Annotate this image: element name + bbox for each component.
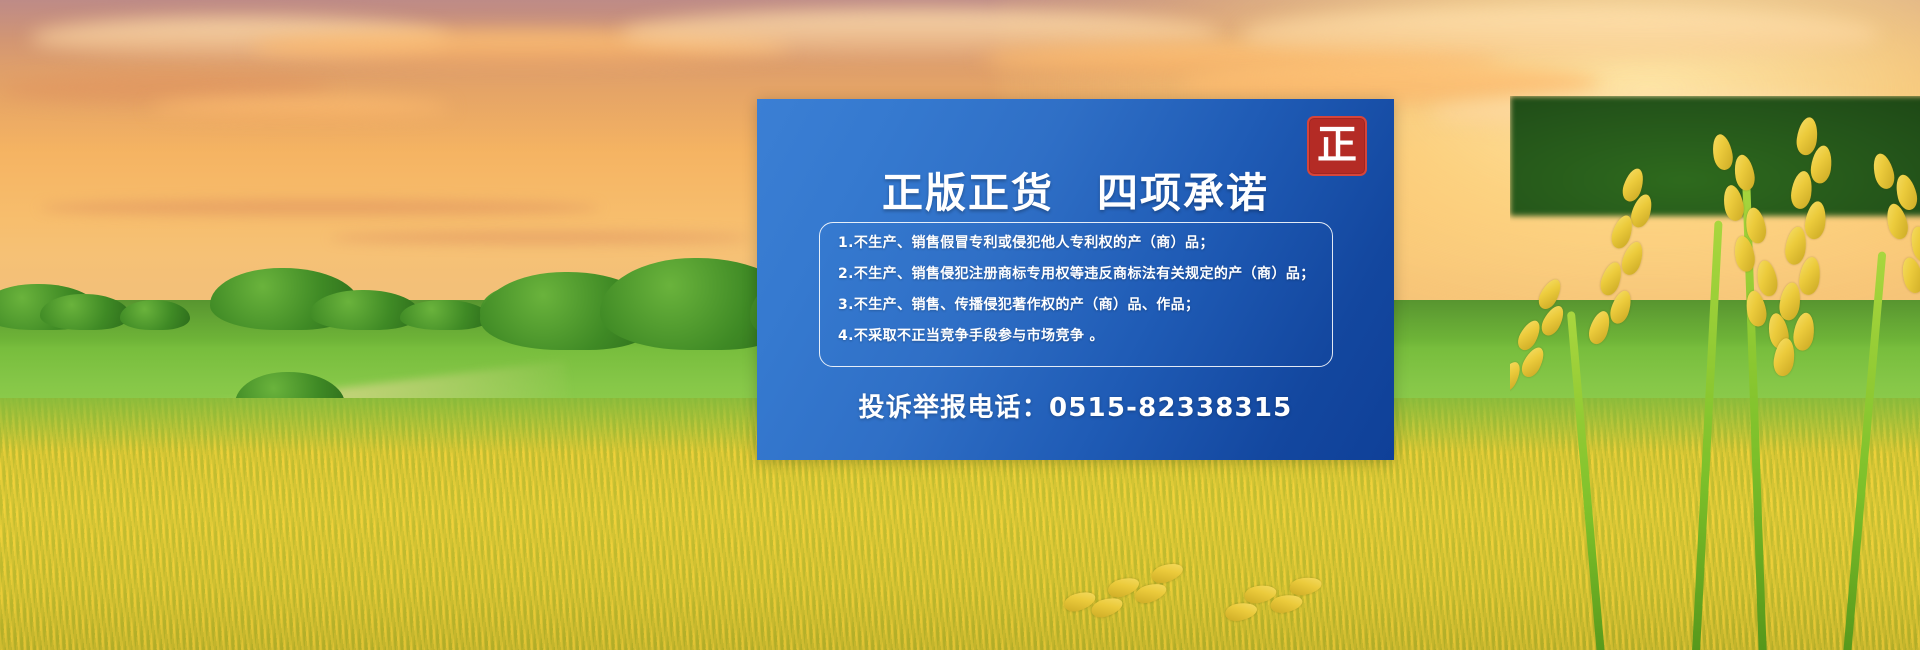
tree bbox=[400, 300, 490, 330]
list-item: 4.不采取不正当竞争手段参与市场竞争 。 bbox=[838, 329, 1332, 343]
list-item: 1.不生产、销售假冒专利或侵犯他人专利权的产（商）品； bbox=[838, 236, 1332, 250]
rice-stalk-cluster bbox=[1510, 96, 1920, 650]
list-item: 3.不生产、销售、传播侵犯著作权的产（商）品、作品； bbox=[838, 298, 1332, 312]
promise-panel: 正 正版正货 四项承诺 1.不生产、销售假冒专利或侵犯他人专利权的产（商）品； … bbox=[757, 99, 1394, 460]
cloud bbox=[150, 98, 450, 118]
promise-list: 1.不生产、销售假冒专利或侵犯他人专利权的产（商）品； 2.不生产、销售侵犯注册… bbox=[819, 222, 1333, 367]
rice-stalk bbox=[1567, 311, 1608, 650]
list-item: 2.不生产、销售侵犯注册商标专用权等违反商标法有关规定的产（商）品； bbox=[838, 267, 1332, 281]
tree bbox=[40, 294, 130, 330]
rice-stalk bbox=[1840, 251, 1886, 650]
tree bbox=[120, 300, 190, 330]
rice-stalk bbox=[1690, 220, 1723, 650]
cloud bbox=[1240, 8, 1880, 60]
page-title: 正版正货 四项承诺 bbox=[757, 159, 1394, 219]
promise-banner: 正 正版正货 四项承诺 1.不生产、销售假冒专利或侵犯他人专利权的产（商）品； … bbox=[0, 0, 1920, 650]
complaint-hotline: 投诉举报电话：0515-82338315 bbox=[757, 387, 1394, 424]
